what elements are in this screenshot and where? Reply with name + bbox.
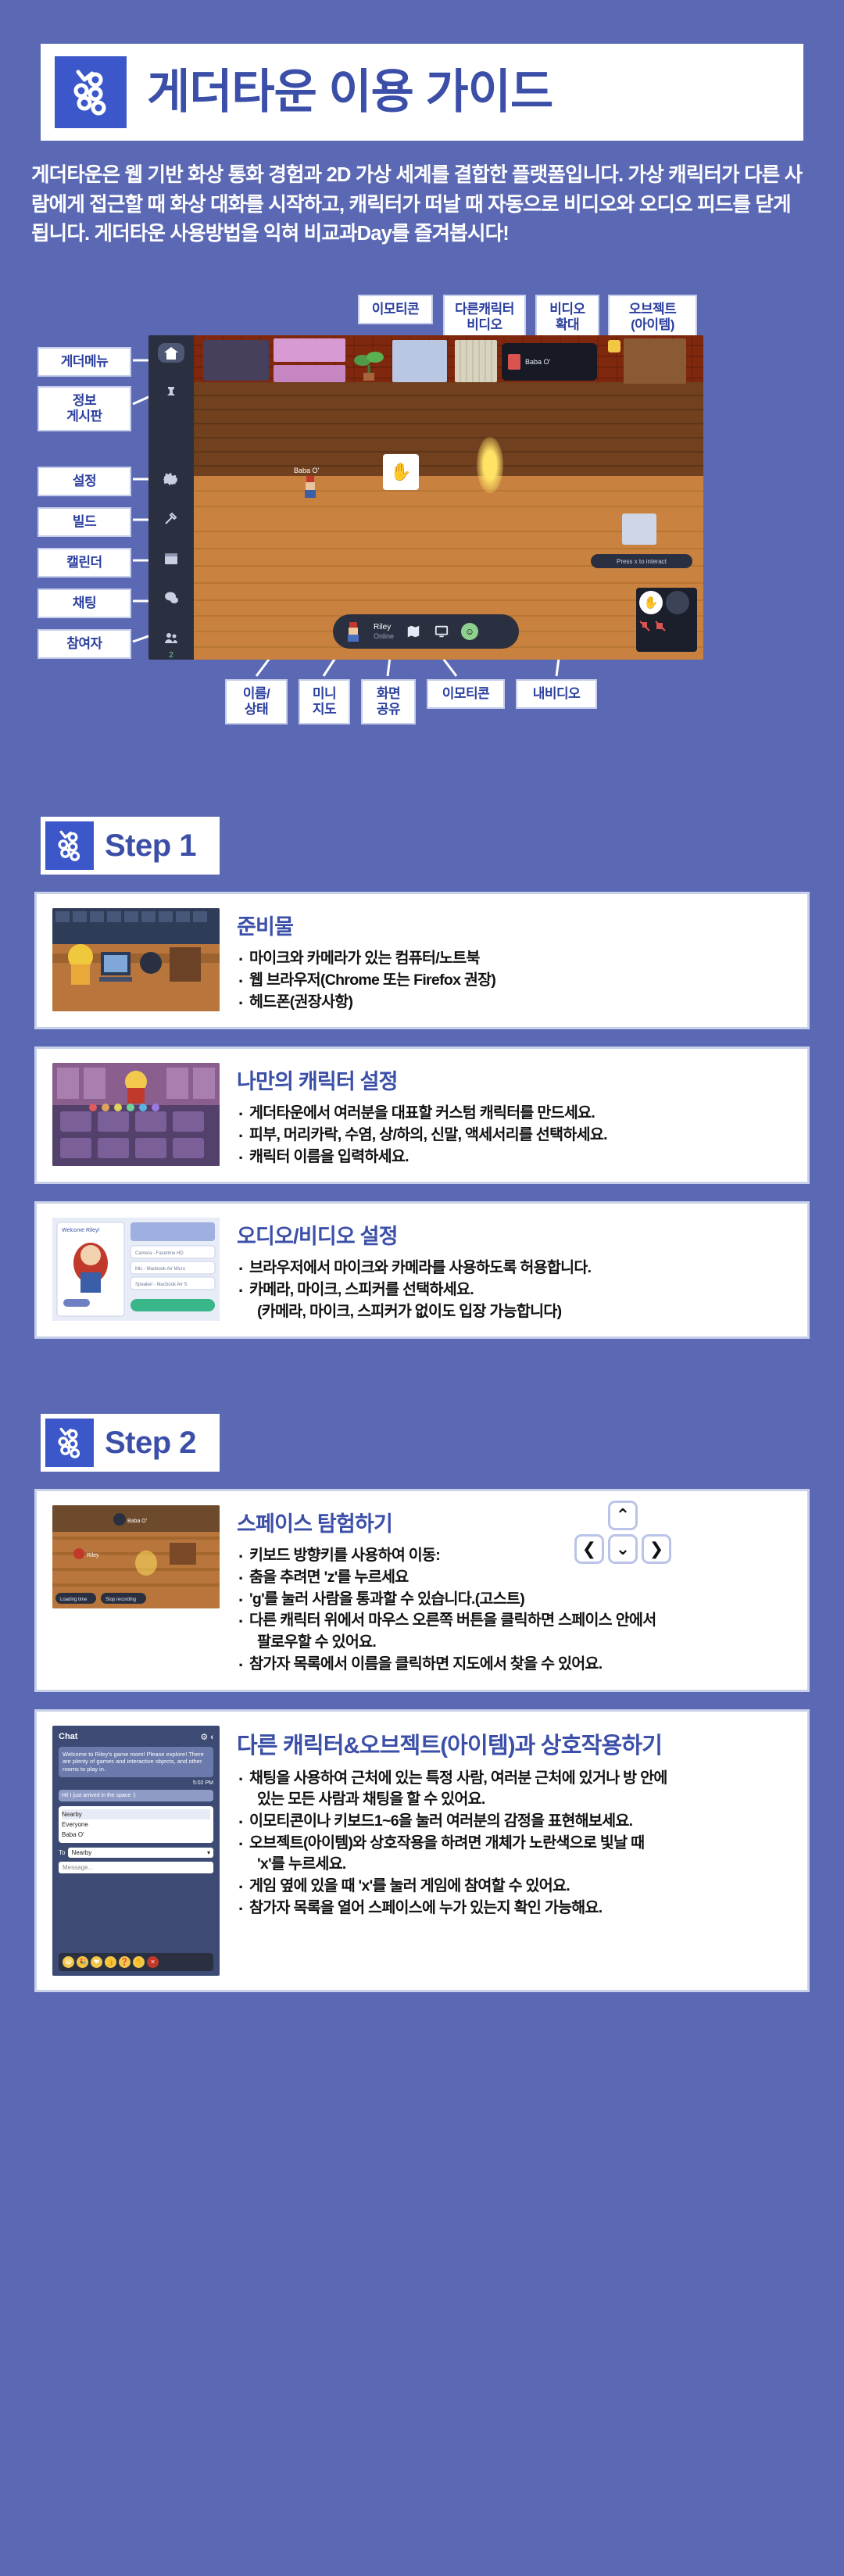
game-world: Baba O' ✋ Baba O' Press x to interact <box>148 335 703 660</box>
dropdown-option-everyone[interactable]: Everyone <box>62 1819 210 1830</box>
svg-text:Loading time: Loading time <box>60 1597 88 1602</box>
label-name-status: 이름/ 상태 <box>225 679 288 724</box>
chat-to-row: To Nearby ▾ <box>59 1848 213 1858</box>
nearby-character-name: Baba O' <box>294 467 319 474</box>
av-settings-thumb: Welcome Riley! Camera - Facetime HD Mic … <box>52 1218 220 1321</box>
bullet-item: 헤드폰(권장사항) <box>237 992 792 1014</box>
shelf-object <box>203 340 269 381</box>
bullet-item: 있는 모든 사람과 채팅을 할 수 있어요. <box>237 1789 792 1811</box>
emoji-1[interactable]: 😀 <box>63 1956 74 1968</box>
bullet-item: 게더타운에서 여러분을 대표할 커스텀 캐릭터를 만드세요. <box>237 1103 792 1125</box>
bullet-item: 다른 캐릭터 위에서 마우스 오른쪽 버튼을 클릭하면 스페이스 안에서 <box>237 1610 792 1632</box>
pink-counter-top <box>274 338 345 362</box>
guide-page: 게더타운 이용 가이드 게더타운은 웹 기반 화상 통화 경험과 2D 가상 세… <box>0 44 844 2576</box>
bullet-list: 게더타운에서 여러분을 대표할 커스텀 캐릭터를 만드세요. 피부, 머리카락,… <box>237 1103 792 1168</box>
card-character-setup: 나만의 캐릭터 설정 게더타운에서 여러분을 대표할 커스텀 캐릭터를 만드세요… <box>34 1046 810 1184</box>
label-video-zoom: 비디오 확대 <box>535 295 599 340</box>
emoticon-icon[interactable]: ☺ <box>461 623 478 640</box>
chat-to-label: To <box>59 1849 65 1856</box>
page-title: 게더타운 이용 가이드 <box>147 69 553 116</box>
chevron-down-icon: ▾ <box>207 1849 210 1856</box>
sidebar-item-participants[interactable] <box>158 628 184 648</box>
bullet-list: 브라우저에서 마이크와 카메라를 사용하도록 허용합니다. 카메라, 마이크, … <box>237 1258 792 1322</box>
card-title: 오디오/비디오 설정 <box>237 1219 792 1250</box>
bullet-item: 캐릭터 이름을 입력하세요. <box>237 1147 792 1168</box>
annotated-screenshot: 이모티콘 다른캐릭터 비디오 비디오 확대 오브젝트 (아이템) 게더메뉴 정보… <box>31 273 813 742</box>
nearby-character-avatar <box>302 474 319 498</box>
my-avatar[interactable] <box>344 621 363 642</box>
cabinet-object <box>624 338 686 384</box>
gear-icon[interactable]: ⚙ <box>200 1733 208 1742</box>
raise-hand-icon[interactable]: ✋ <box>639 591 663 614</box>
bullet-item: 참가자 목록에서 이름을 클릭하면 지도에서 찾을 수 있어요. <box>237 1654 792 1676</box>
gather-grape-logo-icon <box>55 56 127 128</box>
label-other-character-video: 다른캐릭터 비디오 <box>443 295 526 340</box>
card-interact-body: 다른 캐릭터&오브젝트(아이템)과 상호작용하기 채팅을 사용하여 근처에 있는… <box>237 1726 792 1976</box>
chat-panel-thumb: Chat ⚙ ‹ Welcome to Riley's game room! P… <box>52 1726 220 1976</box>
svg-text:Riley: Riley <box>87 1553 99 1558</box>
emoji-toolbar: 😀 🎉 ❤ 👍 ❓ ✋ × <box>59 1953 213 1971</box>
bullet-item: 채팅을 사용하여 근처에 있는 특정 사람, 여러분 근처에 있거나 방 안에 <box>237 1768 792 1790</box>
sidebar-item-calendar[interactable] <box>158 549 184 568</box>
label-emoticon-top: 이모티콘 <box>358 295 433 324</box>
bullet-item: 키보드 방향키를 사용하여 이동: <box>237 1545 792 1567</box>
participant-count: 2 <box>169 651 173 660</box>
chat-timestamp: 5:02 PM <box>59 1780 213 1786</box>
label-calendar: 캘린더 <box>38 548 131 578</box>
card-preparation: 준비물 마이크와 카메라가 있는 컴퓨터/노트북 웹 브라우저(Chrome 또… <box>34 892 810 1029</box>
sidebar-item-home[interactable] <box>158 343 184 363</box>
emoji-2[interactable]: 🎉 <box>77 1956 88 1968</box>
label-screen-share: 화면 공유 <box>361 679 416 724</box>
interact-hint: Press x to interact <box>591 554 692 568</box>
svg-text:Stop recording: Stop recording <box>105 1597 136 1602</box>
bullet-item: 'x'를 누르세요. <box>237 1854 792 1876</box>
step-2-label: Step 2 <box>105 1426 196 1461</box>
bullet-item: 팔로우할 수 있어요. <box>237 1632 792 1654</box>
emoji-5[interactable]: ❓ <box>119 1956 131 1968</box>
label-settings: 설정 <box>38 467 131 496</box>
bullet-item: 게임 옆에 있을 때 'x'를 눌러 게임에 참여할 수 있어요. <box>237 1876 792 1898</box>
card-character-setup-body: 나만의 캐릭터 설정 게더타운에서 여러분을 대표할 커스텀 캐릭터를 만드세요… <box>237 1063 792 1168</box>
label-chat: 채팅 <box>38 589 131 618</box>
gather-grape-logo-icon <box>45 1419 94 1467</box>
bullet-list: 마이크와 카메라가 있는 컴퓨터/노트북 웹 브라우저(Chrome 또는 Fi… <box>237 948 792 1013</box>
emoji-4[interactable]: 👍 <box>105 1956 116 1968</box>
wood-floor <box>148 382 703 476</box>
sidebar-item-build[interactable] <box>158 509 184 528</box>
desk-computer-thumb <box>52 908 220 1011</box>
card-preparation-body: 준비물 마이크와 카메라가 있는 컴퓨터/노트북 웹 브라우저(Chrome 또… <box>237 908 792 1013</box>
chevron-left-icon[interactable]: ‹ <box>210 1733 213 1742</box>
plant-object <box>353 342 384 381</box>
svg-text:Speaker - Macbook Air S: Speaker - Macbook Air S <box>135 1283 187 1287</box>
bullet-item: 카메라, 마이크, 스피커를 선택하세요. <box>237 1279 792 1301</box>
dropdown-option-person[interactable]: Baba O' <box>62 1830 210 1840</box>
space-explore-thumb: Baba O' Riley Loading time Stop recordin… <box>52 1505 220 1608</box>
glowing-object-item[interactable] <box>477 437 503 493</box>
close-icon[interactable]: × <box>147 1956 159 1968</box>
emoticon-popup: ✋ <box>383 454 419 490</box>
chat-title: Chat <box>59 1732 77 1741</box>
name-status-block[interactable]: Riley Online <box>374 623 394 640</box>
dropdown-option-nearby[interactable]: Nearby <box>62 1809 210 1819</box>
pink-counter-bottom <box>274 365 345 382</box>
my-video-avatar <box>666 591 689 614</box>
svg-text:Mic - Macbook Air Micro: Mic - Macbook Air Micro <box>135 1267 186 1272</box>
bullet-list: 키보드 방향키를 사용하여 이동: 춤을 추려면 'z'를 누르세요 'g'를 … <box>237 1545 792 1675</box>
step-1-label: Step 1 <box>105 828 196 864</box>
card-title: 준비물 <box>237 910 792 940</box>
bullet-item: 참가자 목록을 열어 스페이스에 누가 있는지 확인 가능해요. <box>237 1898 792 1919</box>
other-video-name: Baba O' <box>525 358 550 366</box>
chat-to-value: Nearby <box>71 1849 91 1856</box>
bookshelf-object <box>455 340 497 382</box>
gather-space-screenshot: Baba O' ✋ Baba O' Press x to interact <box>148 335 703 660</box>
sidebar-item-chat[interactable] <box>158 589 184 608</box>
label-build: 빌드 <box>38 507 131 537</box>
camera-off-icon[interactable] <box>655 621 666 631</box>
bullet-item: (카메라, 마이크, 스피커가 없이도 입장 가능합니다) <box>237 1301 792 1323</box>
svg-text:Welcome Riley!: Welcome Riley! <box>62 1228 100 1233</box>
gather-grape-logo-icon <box>45 821 94 870</box>
svg-text:Baba O': Baba O' <box>127 1519 147 1524</box>
label-gather-menu: 게더메뉴 <box>38 347 131 377</box>
bullet-item: 웹 브라우저(Chrome 또는 Firefox 권장) <box>237 970 792 992</box>
intro-paragraph: 게더타운은 웹 기반 화상 통화 경험과 2D 가상 세계를 결합한 플랫폼입니… <box>31 161 813 249</box>
card-av-setup: Welcome Riley! Camera - Facetime HD Mic … <box>34 1201 810 1339</box>
mic-off-icon[interactable] <box>639 621 650 631</box>
label-object-item: 오브젝트 (아이템) <box>608 295 697 340</box>
whiteboard-object <box>392 340 447 382</box>
sidebar-item-pin[interactable] <box>158 383 184 402</box>
bullet-item: 춤을 추려면 'z'를 누르세요 <box>237 1567 792 1589</box>
emoji-3[interactable]: ❤ <box>91 1956 102 1968</box>
step-1-header: Step 1 <box>41 817 220 875</box>
chat-message-input[interactable]: Message... <box>59 1862 213 1873</box>
emoji-6[interactable]: ✋ <box>133 1956 145 1968</box>
gather-sidebar: 2 <box>148 335 194 660</box>
chat-welcome-message: Welcome to Riley's game room! Please exp… <box>59 1747 213 1777</box>
minimap-icon[interactable] <box>405 623 422 640</box>
card-interact: Chat ⚙ ‹ Welcome to Riley's game room! P… <box>34 1709 810 1992</box>
my-video-panel: ✋ <box>636 588 697 652</box>
svg-text:Camera - Facetime HD: Camera - Facetime HD <box>135 1251 184 1256</box>
label-minimap: 미니 지도 <box>299 679 350 724</box>
bullet-item: 마이크와 카메라가 있는 컴퓨터/노트북 <box>237 948 792 970</box>
my-name: Riley <box>374 623 391 631</box>
step-2-header: Step 2 <box>41 1414 220 1472</box>
card-explore-space: Baba O' Riley Loading time Stop recordin… <box>34 1489 810 1691</box>
other-video-avatar <box>508 354 520 370</box>
bullet-list: 채팅을 사용하여 근처에 있는 특정 사람, 여러분 근처에 있거나 방 안에 … <box>237 1768 792 1919</box>
chat-header: Chat ⚙ ‹ <box>59 1732 213 1742</box>
character-editor-thumb <box>52 1063 220 1166</box>
chat-to-select[interactable]: Nearby ▾ <box>68 1848 213 1858</box>
screen-share-icon[interactable] <box>433 623 450 640</box>
computer-object <box>622 513 656 545</box>
arrow-up-key[interactable]: ⌃ <box>608 1501 638 1530</box>
card-title: 다른 캐릭터&오브젝트(아이템)과 상호작용하기 <box>237 1727 792 1760</box>
card-explore-space-body: 스페이스 탐험하기 ⌃ ❮ ⌄ ❯ 키보드 방향키를 사용하여 이동: 춤을 추… <box>237 1505 792 1675</box>
bullet-item: 'g'를 눌러 사람을 통과할 수 있습니다.(고스트) <box>237 1589 792 1611</box>
card-title: 스페이스 탐험하기 <box>237 1507 792 1537</box>
my-status: Online <box>374 632 394 640</box>
card-av-setup-body: 오디오/비디오 설정 브라우저에서 마이크와 카메라를 사용하도록 허용합니다.… <box>237 1218 792 1322</box>
title-banner: 게더타운 이용 가이드 <box>41 44 803 141</box>
label-my-video: 내비디오 <box>516 679 597 709</box>
chat-header-icons: ⚙ ‹ <box>200 1732 213 1742</box>
highlight-marker <box>608 340 620 352</box>
gather-bottom-toolbar: Riley Online ☺ <box>333 614 519 649</box>
bullet-item: 피부, 머리카락, 수염, 상/하의, 신말, 액세서리를 선택하세요. <box>237 1125 792 1147</box>
bullet-item: 브라우저에서 마이크와 카메라를 사용하도록 허용합니다. <box>237 1258 792 1279</box>
label-emoticon-bottom: 이모티콘 <box>427 679 505 709</box>
label-info-board: 정보 게시판 <box>38 386 131 431</box>
bullet-item: 오브젝트(아이템)와 상호작용을 하려면 개체가 노란색으로 빛날 때 <box>237 1833 792 1855</box>
other-character-video-tile[interactable]: Baba O' <box>502 343 597 381</box>
label-participants: 참여자 <box>38 629 131 659</box>
chat-recipient-dropdown[interactable]: Nearby Everyone Baba O' <box>59 1806 213 1843</box>
card-title: 나만의 캐릭터 설정 <box>237 1064 792 1095</box>
chat-message: Hi! I just arrived in the space :) <box>59 1790 213 1801</box>
sidebar-item-settings[interactable] <box>158 468 184 488</box>
bullet-item: 이모티콘이나 키보드1~6을 눌러 여러분의 감정을 표현해보세요. <box>237 1811 792 1833</box>
